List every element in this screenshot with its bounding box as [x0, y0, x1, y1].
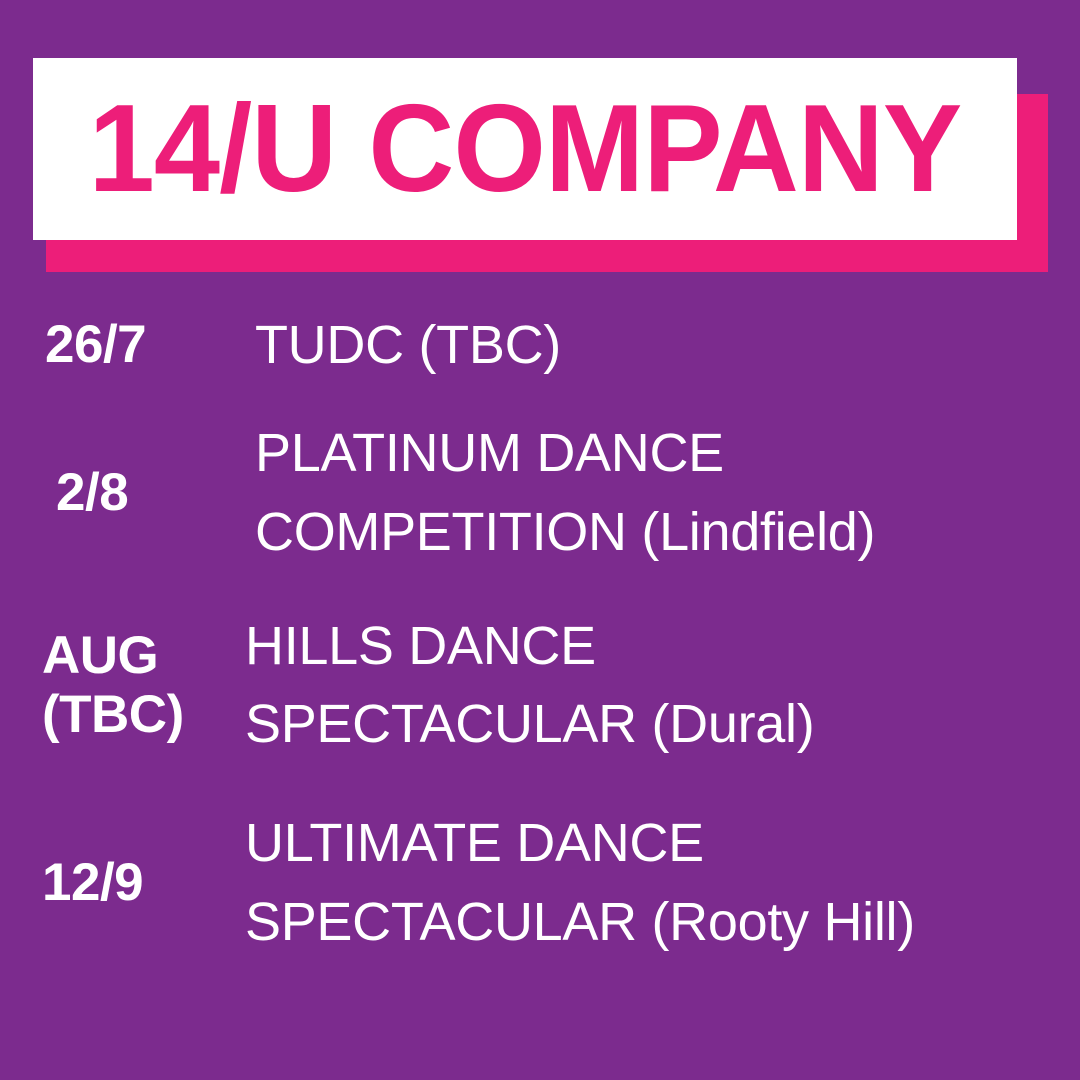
schedule-row: 12/9 ULTIMATE DANCE SPECTACULAR (Rooty H… [0, 785, 1080, 980]
schedule-row-date: AUG (TBC) [0, 626, 245, 745]
page-title: 14/U COMPANY [53, 58, 998, 240]
schedule-row-date: 26/7 [0, 315, 255, 374]
schedule-row: 26/7 TUDC (TBC) [0, 290, 1080, 400]
schedule-row-event: PLATINUM DANCE COMPETITION (Lindfield) [255, 414, 1080, 571]
title-banner: 14/U COMPANY [0, 58, 1080, 273]
schedule-row-event: TUDC (TBC) [255, 306, 1080, 384]
schedule-row-date: 2/8 [0, 463, 255, 522]
schedule-row-date: 12/9 [0, 853, 245, 912]
schedule-list: 26/7 TUDC (TBC) 2/8 PLATINUM DANCE COMPE… [0, 290, 1080, 980]
schedule-row-event: HILLS DANCE SPECTACULAR (Dural) [245, 607, 1080, 764]
schedule-row: 2/8 PLATINUM DANCE COMPETITION (Lindfiel… [0, 400, 1080, 585]
schedule-row-event: ULTIMATE DANCE SPECTACULAR (Rooty Hill) [245, 804, 1080, 961]
schedule-row: AUG (TBC) HILLS DANCE SPECTACULAR (Dural… [0, 585, 1080, 785]
